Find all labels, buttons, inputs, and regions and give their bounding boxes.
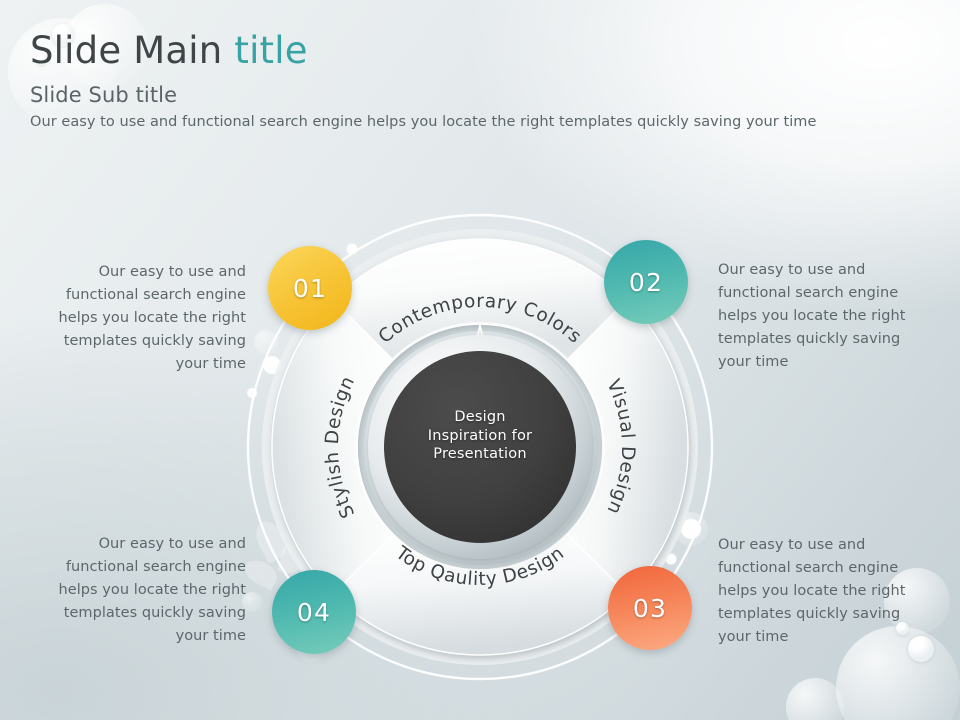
step-badge-04[interactable]: 04 [272, 570, 356, 654]
step-description-02: Our easy to use and functional search en… [718, 259, 918, 374]
slide-canvas: Slide Main title Slide Sub title Our eas… [0, 0, 960, 720]
decorative-bubble [786, 678, 844, 720]
page-lead-text: Our easy to use and functional search en… [30, 114, 816, 130]
step-description-04: Our easy to use and functional search en… [46, 533, 246, 648]
step-badge-01-number: 01 [293, 274, 327, 303]
page-subtitle: Slide Sub title [30, 83, 816, 107]
step-badge-02[interactable]: 02 [604, 240, 688, 324]
hub-center[interactable] [384, 351, 576, 543]
page-title-main: Slide Main [30, 29, 234, 72]
step-badge-02-number: 02 [629, 268, 663, 297]
page-title-accent: title [234, 29, 307, 72]
step-badge-03-number: 03 [633, 594, 667, 623]
step-badge-01[interactable]: 01 [268, 246, 352, 330]
slide-header: Slide Main title Slide Sub title Our eas… [30, 30, 816, 130]
page-title: Slide Main title [30, 30, 816, 71]
step-description-01: Our easy to use and functional search en… [46, 261, 246, 376]
step-badge-04-number: 04 [297, 598, 331, 627]
step-badge-03[interactable]: 03 [608, 566, 692, 650]
step-description-03: Our easy to use and functional search en… [718, 534, 918, 649]
